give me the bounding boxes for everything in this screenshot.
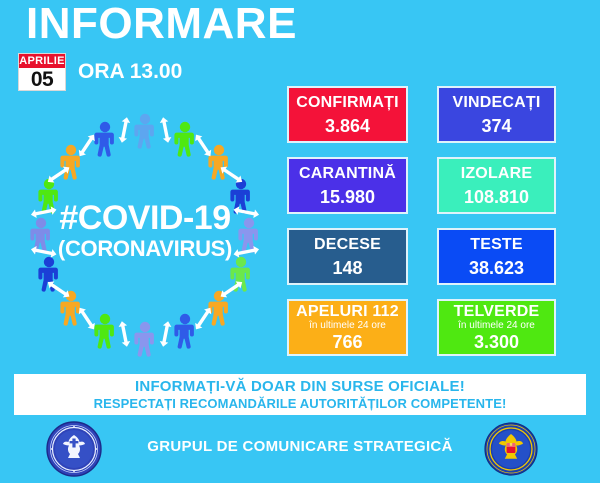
- stat-value: 766: [332, 331, 362, 353]
- person-icon-16: [94, 122, 114, 157]
- arrow-icon-15: [76, 132, 98, 158]
- person-icon-3: [208, 145, 228, 180]
- stat-label: VINDECAȚI: [452, 93, 540, 112]
- person-icon-4: [230, 179, 250, 214]
- person-icon-1: [134, 114, 154, 149]
- stat-box-izolare: IZOLARE 108.810: [437, 157, 556, 214]
- stat-sublabel: în ultimele 24 ore: [458, 320, 535, 331]
- people-circle-svg: [14, 104, 276, 360]
- stat-box-vindecati: VINDECAȚI 374: [437, 86, 556, 143]
- stat-value: 374: [481, 115, 511, 137]
- stat-label: CARANTINĂ: [299, 164, 396, 183]
- stat-box-confirmati: CONFIRMAȚI 3.864: [287, 86, 408, 143]
- date-badge-month: APRILIE: [19, 54, 65, 68]
- stat-label: TELVERDE: [454, 302, 540, 321]
- stat-box-telverde: TELVERDE în ultimele 24 ore 3.300: [437, 299, 556, 356]
- page-title: INFORMARE: [26, 2, 297, 46]
- stat-label: IZOLARE: [461, 164, 533, 183]
- stat-box-apeluri-112: APELURI 112 în ultimele 24 ore 766: [287, 299, 408, 356]
- arrow-icon-16: [118, 116, 131, 143]
- stat-label: CONFIRMAȚI: [296, 93, 398, 112]
- advisory-line-1: INFORMAȚI-VĂ DOAR DIN SURSE OFICIALE!: [135, 378, 465, 396]
- stat-box-teste: TESTE 38.623: [437, 228, 556, 285]
- advisory-line-2: RESPECTAȚI RECOMANDĂRILE AUTORITĂȚILOR C…: [94, 396, 507, 412]
- stat-value: 15.980: [320, 186, 375, 208]
- date-badge-day: 05: [19, 68, 65, 91]
- person-icon-11: [60, 291, 80, 326]
- covid-circle-graphic: #COVID-19 (CORONAVIRUS): [14, 104, 276, 360]
- stat-box-carantina: CARANTINĂ 15.980: [287, 157, 408, 214]
- departamentul-situatii-urgenta-seal-icon: [484, 422, 538, 476]
- advisory-banner: INFORMAȚI-VĂ DOAR DIN SURSE OFICIALE! RE…: [14, 374, 586, 415]
- person-icon-2: [174, 122, 194, 157]
- stat-value: 148: [332, 257, 362, 279]
- stat-value: 38.623: [469, 257, 524, 279]
- stat-sublabel: în ultimele 24 ore: [309, 320, 386, 331]
- hour-label: ORA 13.00: [78, 60, 182, 84]
- person-icon-13: [30, 218, 50, 253]
- stat-value: 3.864: [325, 115, 370, 137]
- person-icon-14: [38, 179, 58, 214]
- stat-label: DECESE: [314, 235, 381, 254]
- stat-value: 108.810: [464, 186, 529, 208]
- date-badge: APRILIE 05: [18, 53, 66, 91]
- arrow-icon-1: [159, 116, 172, 143]
- stat-label: APELURI 112: [296, 302, 399, 321]
- stat-label: TESTE: [470, 235, 523, 254]
- arrow-icon-2: [192, 132, 214, 158]
- person-icon-10: [94, 314, 114, 349]
- arrow-icon-9: [118, 320, 131, 347]
- stat-box-decese: DECESE 148: [287, 228, 408, 285]
- arrow-icon-8: [159, 320, 172, 347]
- poster-root: INFORMARE APRILIE 05 ORA 13.00: [0, 0, 600, 483]
- stat-value: 3.300: [474, 331, 519, 353]
- person-icon-9: [134, 322, 154, 357]
- person-icon-8: [174, 314, 194, 349]
- person-icon-15: [60, 145, 80, 180]
